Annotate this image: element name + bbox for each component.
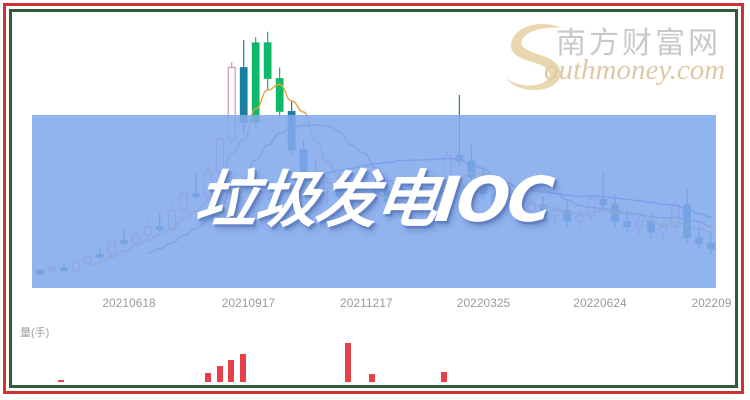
candle-16 [228,62,235,144]
candle-10 [156,213,163,232]
price-candlestick-panel [14,14,733,290]
candle-20 [276,67,283,116]
candle-24 [324,177,331,204]
candle-0 [37,268,44,276]
candle-30 [396,188,403,210]
candle-18 [252,37,259,128]
candle-40 [516,191,523,213]
candle-28 [372,177,379,199]
x-axis-tick-5: 202209 [691,296,731,310]
candle-22 [300,139,307,183]
volume-bars [14,340,733,382]
x-axis-tick-3: 20220325 [457,296,510,310]
volume-panel: 量(手) [14,324,733,383]
chart-stage: 垃圾发电IOC 20210618202109172021121720220325… [14,14,733,383]
candle-31 [408,183,415,205]
candle-19 [264,32,271,90]
stock-chart-screenshot: 垃圾发电IOC 20210618202109172021121720220325… [0,0,750,400]
candle-35 [456,95,463,166]
ma-long-line [268,158,711,217]
candle-32 [420,186,427,208]
candle-5 [96,249,103,260]
candle-34 [444,150,451,188]
candle-56 [708,232,715,254]
candle-8 [132,232,139,246]
ma-short-line [88,85,711,266]
candle-9 [144,221,151,237]
candle-15 [216,133,223,177]
candle-55 [696,227,703,249]
candle-29 [384,180,391,207]
candlestick-svg [14,14,733,290]
candle-26 [348,183,355,210]
volume-axis-title: 量(手) [20,324,49,340]
candle-42 [540,197,547,222]
candle-7 [120,230,127,246]
x-axis-tick-4: 20220624 [573,296,626,310]
candle-2 [60,262,67,270]
volume-bar-5 [345,343,351,382]
volume-bar-7 [441,372,447,382]
x-axis-tick-1: 20210917 [222,296,275,310]
candle-50 [636,216,643,235]
candle-12 [180,188,187,213]
volume-bar-0 [58,380,64,382]
volume-bar-1 [205,373,211,382]
candle-47 [600,172,607,210]
candle-53 [672,199,679,232]
volume-bar-3 [228,360,234,382]
candle-37 [480,166,487,199]
volume-bar-4 [240,354,246,382]
candle-39 [504,194,511,216]
candle-4 [84,254,91,265]
candle-1 [48,265,55,273]
candle-6 [108,238,115,257]
x-axis-tick-2: 20211217 [340,296,393,310]
candle-13 [192,172,199,199]
candle-17 [240,40,247,133]
volume-bar-6 [369,374,375,382]
candle-14 [204,166,211,202]
candle-54 [684,188,691,243]
candle-36 [468,144,475,182]
x-axis-tick-0: 20210618 [102,296,155,310]
candle-44 [564,202,571,227]
volume-bar-2 [217,366,223,382]
candle-33 [432,172,439,194]
candle-27 [360,191,367,213]
candle-3 [72,260,79,271]
candle-38 [492,183,499,210]
x-axis-labels: 2021061820210917202112172022032520220624… [14,296,733,320]
candle-25 [336,172,343,199]
candle-52 [660,221,667,240]
